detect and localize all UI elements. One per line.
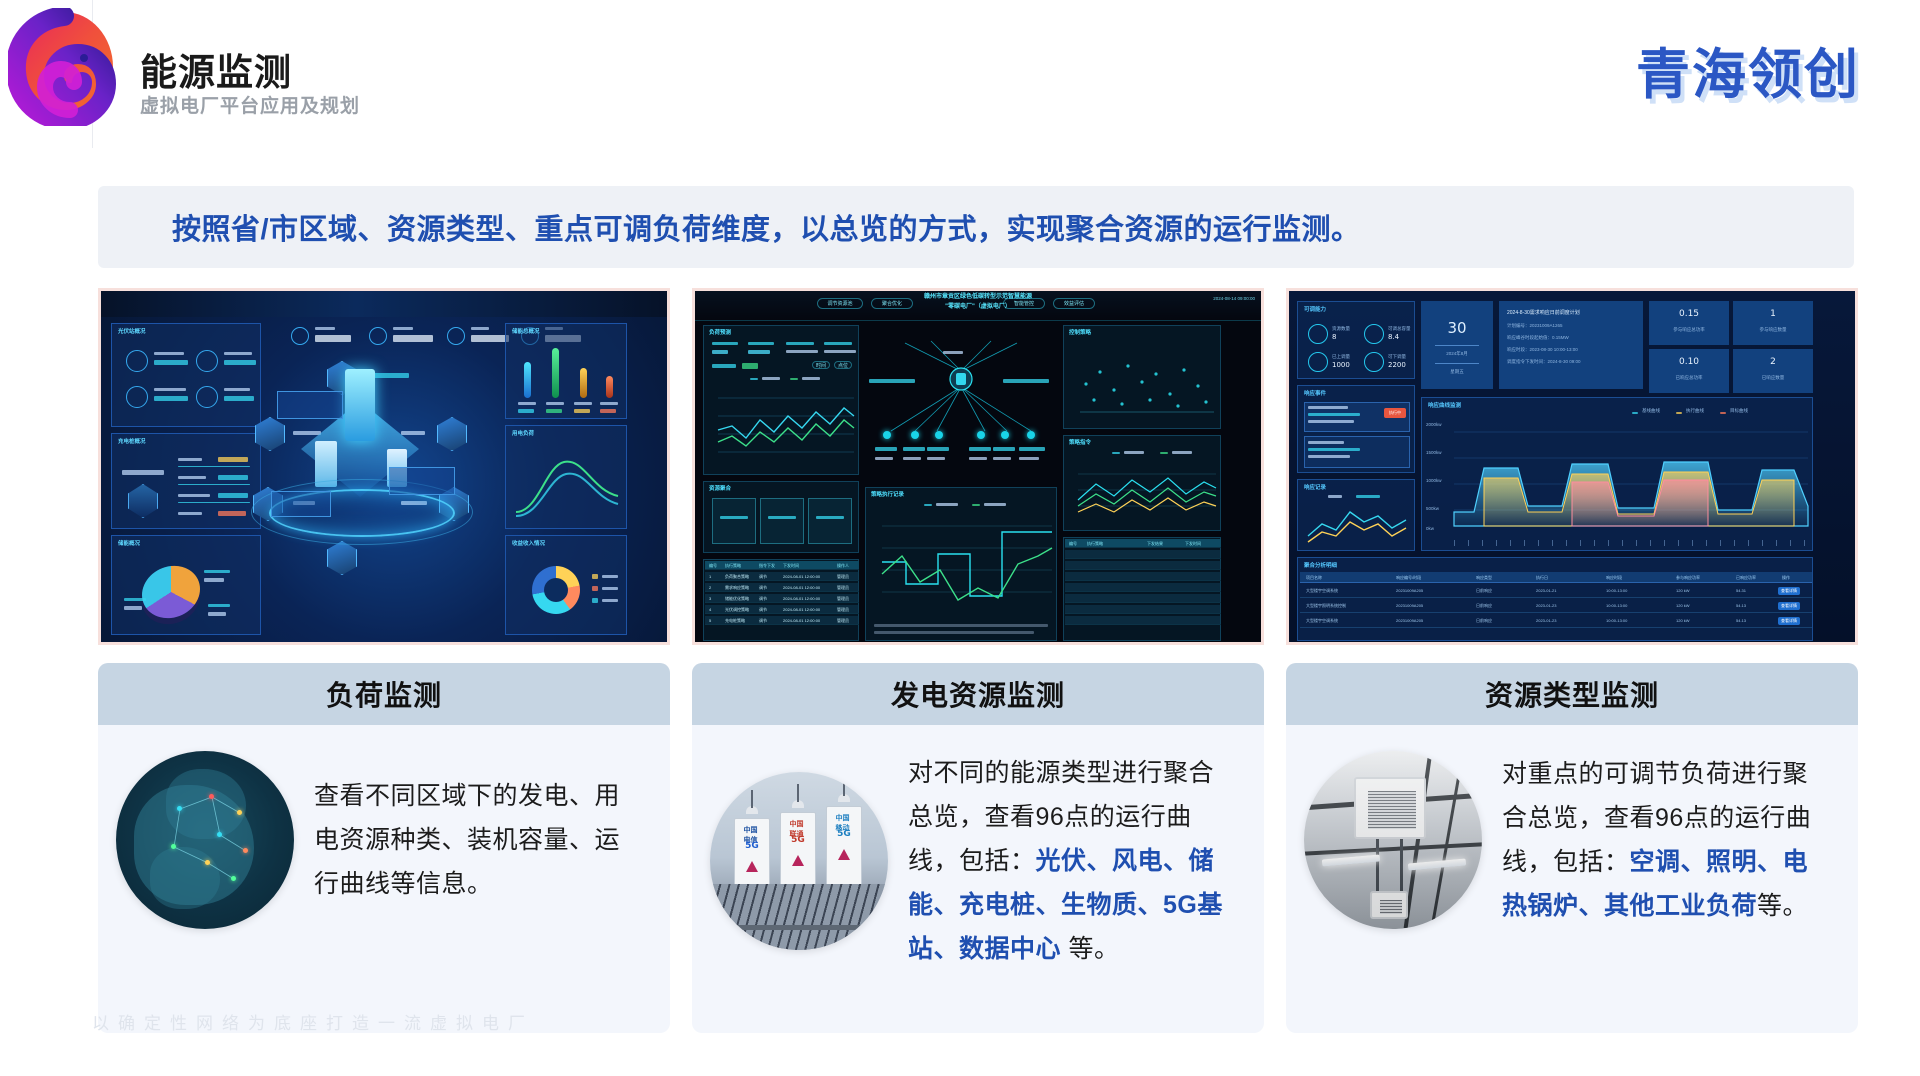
stat-label: 已上调量	[1332, 354, 1350, 360]
card-description: 对不同的能源类型进行聚合总览，查看96点的运行曲线，包括：光伏、风电、储能、充电…	[908, 751, 1238, 971]
card-header: 负荷监测	[98, 663, 670, 725]
panel-control-strategy: 控制策略	[1063, 325, 1221, 429]
panel-revenue: 收益收入情况	[505, 535, 627, 635]
panel-pv-overview: 光伏站概况	[111, 323, 261, 427]
kpi-label: 已响应总功率	[1676, 375, 1703, 381]
column-header: 项目名称	[1306, 575, 1322, 581]
panel-power-load: 用电负荷	[505, 425, 627, 529]
dashboard-topbar	[101, 291, 667, 317]
plan-line: 响应时段：2023-08-30 10:00-13:00	[1507, 347, 1578, 353]
card-text-run: 等。	[1061, 935, 1119, 963]
kpi-card: 2 已响应数量	[1733, 349, 1813, 393]
panel-title: 聚合分析明细	[1304, 561, 1337, 569]
x-axis-ticks	[1454, 540, 1806, 546]
card-body: 对重点的可调节负荷进行聚合总览，查看96点的运行曲线，包括：空调、照明、电热锅炉…	[1286, 725, 1858, 955]
card-body: 查看不同区域下的发电、用电资源种类、装机容量、运行曲线等信息。	[98, 725, 670, 955]
date-weekday: 星期五	[1450, 369, 1464, 375]
table-row[interactable]: 1 负荷聚合策略 调节 2024-08-01 12:00:00 管理员	[705, 572, 859, 581]
column-header: 响应时段	[1606, 575, 1622, 581]
panel-title: 响应曲线监测	[1428, 401, 1461, 409]
card-title: 负荷监测	[326, 674, 442, 714]
page-title: 能源监测	[140, 42, 292, 96]
panel-storage-overview: 储能概况	[111, 535, 261, 635]
card-description: 查看不同区域下的发电、用电资源种类、装机容量、运行曲线等信息。	[314, 774, 644, 906]
stat-value: 8.4	[1388, 333, 1399, 341]
btn-point[interactable]: 点位	[834, 361, 852, 369]
table-header-row: 项目名称 响应编号/时段 响应类型 执行日 响应时段 参与响应功率 已响应功率 …	[1300, 572, 1812, 583]
panel-title: 充电桩概况	[118, 437, 146, 445]
column-header: 参与响应功率	[1676, 575, 1700, 581]
panel-response-event: 响应事件 执行中	[1297, 385, 1415, 473]
screenshot-resource-type[interactable]: 可调能力 资源数量 8 可调总容量 8.4 已上调量 1000 可下调量 220…	[1286, 288, 1858, 645]
kpi-label: 参与响应数量	[1760, 327, 1787, 333]
table-row[interactable]	[1065, 572, 1221, 581]
panel-title: 光伏站概况	[118, 327, 146, 335]
stat-label: 资源数量	[1332, 326, 1350, 332]
panel-resource-aggregation: 资源聚合	[703, 481, 859, 553]
column-header: 执行日	[1536, 575, 1548, 581]
table-row[interactable]: 3 储能优化策略 调节 2024-08-01 12:00:00 管理员	[705, 594, 859, 603]
table-row[interactable]: 大型楼宇照明系统控制 20231009A205 日前响应 2023-01-23 …	[1300, 600, 1812, 613]
view-detail-button[interactable]: 查看详情	[1778, 602, 1800, 610]
table-row[interactable]: 大型楼宇空调系统 20231009A205 日前响应 2023-01-23 10…	[1300, 615, 1812, 628]
5g-tower-photo-icon: 中国电信 5G 中国联通 5G 中国移动 5G	[710, 772, 888, 950]
kpi-value: 1	[1770, 309, 1776, 319]
plan-card: 2024-8-30需求响应日前调度计划 计划编号：20231009A1265 响…	[1499, 301, 1643, 389]
panel-response-record: 响应记录	[1297, 479, 1415, 551]
dashboard-title: 赣州市章贡区绿色低碳转型示范智慧能源	[828, 293, 1128, 302]
panel-storage-summary: 储能总概况	[505, 323, 627, 419]
column-header: 执行策略	[725, 563, 741, 569]
card-title: 发电资源监测	[891, 674, 1065, 714]
column-header: 指令下发	[759, 563, 775, 569]
table-row[interactable]: 4 光伏调控策略 调节 2024-08-01 12:00:00 管理员	[705, 605, 859, 614]
column-header: 操作人	[837, 563, 849, 569]
plan-title: 2024-8-30需求响应日前调度计划	[1507, 309, 1580, 316]
panel-title: 响应事件	[1304, 389, 1326, 397]
legend-item: 基线曲线	[1642, 408, 1660, 414]
table-row[interactable]: 大型楼宇空调系统 20231009A205 日前响应 2023-01-21 10…	[1300, 585, 1812, 598]
card-text-run: 查看不同区域下的发电、用电资源种类、装机容量、运行曲线等信息。	[314, 782, 620, 898]
column-header: 操作	[1782, 575, 1790, 581]
panel-title: 负荷预测	[709, 328, 731, 336]
column-header: 已响应功率	[1736, 575, 1756, 581]
column-header: 下发时间	[783, 563, 799, 569]
column-header: 下发时间	[1185, 541, 1201, 547]
slide-header: 能源监测 虚拟电厂平台应用及规划 青海领创	[0, 0, 1920, 148]
view-detail-button[interactable]: 查看详情	[1778, 587, 1800, 595]
stat-label: 可调总容量	[1388, 326, 1411, 332]
panel-title: 策略指令	[1069, 438, 1091, 446]
column-header: 编号	[1069, 541, 1077, 547]
card-resource-type: 资源类型监测	[1286, 663, 1858, 1033]
panel-response-curve: 响应曲线监测 基线曲线 执行曲线 目标曲线 2000kw 1500kw 1000…	[1421, 397, 1813, 551]
card-load-monitoring: 负荷监测	[98, 663, 670, 1033]
aggregation-flow-diagram	[865, 327, 1057, 477]
screenshot-generation-resource[interactable]: 调节资源池 聚合优化 智能管控 效益评估 赣州市章贡区绿色低碳转型示范智慧能源 …	[692, 288, 1264, 645]
card-text-run: 等。	[1757, 892, 1808, 920]
card-header: 资源类型监测	[1286, 663, 1858, 725]
status-badge: 执行中	[1384, 408, 1406, 418]
table-row[interactable]	[1065, 616, 1221, 625]
table-header-row: 编号 执行策略 指令下发 下发时间 操作人	[705, 561, 859, 570]
panel-title: 响应记录	[1304, 483, 1326, 491]
screenshot-load-monitoring[interactable]: 光伏站概况 充电桩概况	[98, 288, 670, 645]
stat-label: 可下调量	[1388, 354, 1406, 360]
banner: 按照省/市区域、资源类型、重点可调负荷维度，以总览的方式，实现聚合资源的运行监测…	[98, 186, 1854, 268]
plan-line: 计划编号：20231009A1265	[1507, 323, 1563, 329]
column-header: 响应类型	[1476, 575, 1492, 581]
table-row[interactable]	[1065, 594, 1221, 603]
panel-strategy-records: 编号 执行策略 指令下发 下发时间 操作人 1 负荷聚合策略 调节 2024-0…	[703, 559, 859, 641]
column-header: 编号	[709, 563, 717, 569]
kpi-label: 已响应数量	[1762, 375, 1785, 381]
card-title: 资源类型监测	[1485, 674, 1659, 714]
kpi-value: 2	[1770, 357, 1776, 367]
dashboard-timestamp: 2024-08-14 09:00:00	[1213, 296, 1255, 301]
plan-line: 响应峰谷时段起始值：0.15MW	[1507, 335, 1569, 341]
stat-value: 8	[1332, 333, 1336, 341]
panel-title: 策略执行记录	[871, 490, 904, 498]
kpi-card: 1 参与响应数量	[1733, 301, 1813, 345]
stat-value: 2200	[1388, 361, 1406, 369]
dashboard-subtitle: "零碳电厂"（虚拟电厂）	[828, 303, 1128, 312]
table-row[interactable]: 5 充电桩策略 调节 2024-08-01 12:00:00 管理员	[705, 616, 859, 625]
plan-line: 调度指令下发时间：2024-8-30 09:00	[1507, 359, 1581, 365]
stat-value: 1000	[1332, 361, 1350, 369]
ceiling-ac-photo-icon	[1304, 751, 1482, 929]
table-row[interactable]	[1065, 550, 1221, 559]
page-subtitle: 虚拟电厂平台应用及规划	[140, 91, 360, 118]
dashboard-screenshot-strip: 光伏站概况 充电桩概况	[98, 288, 1858, 645]
kpi-card: 0.10 已响应总功率	[1649, 349, 1729, 393]
table-row[interactable]	[1065, 605, 1221, 614]
panel-title: 资源聚合	[709, 484, 731, 492]
panel-title: 控制策略	[1069, 328, 1091, 336]
footer-watermark: 以确定性网络为底座打造一流虚拟电厂	[92, 1009, 534, 1034]
kpi-card: 0.15 参与响应总功率	[1649, 301, 1729, 345]
banner-text: 按照省/市区域、资源类型、重点可调负荷维度，以总览的方式，实现聚合资源的运行监测…	[172, 206, 1361, 248]
legend-item: 执行曲线	[1686, 408, 1704, 414]
panel-adjustable-capacity: 可调能力 资源数量 8 可调总容量 8.4 已上调量 1000 可下调量 220…	[1297, 301, 1415, 379]
date-day: 30	[1447, 319, 1466, 337]
panel-load-forecast: 负荷预测 时间 点位	[703, 325, 859, 475]
panel-aggregation-detail: 聚合分析明细 项目名称 响应编号/时段 响应类型 执行日 响应时段 参与响应功率…	[1297, 557, 1813, 641]
table-header-row: 编号 执行策略 下发结果 下发时间	[1065, 539, 1221, 548]
date-month: 2024年8月	[1446, 351, 1468, 357]
card-description: 对重点的可调节负荷进行聚合总览，查看96点的运行曲线，包括：空调、照明、电热锅炉…	[1502, 752, 1832, 928]
column-header: 响应编号/时段	[1396, 575, 1421, 581]
feature-cards: 负荷监测	[98, 663, 1858, 1033]
panel-title: 收益收入情况	[512, 539, 545, 547]
table-row[interactable]	[1065, 583, 1221, 592]
panel-title: 储能总概况	[512, 327, 540, 335]
legend-item: 目标曲线	[1730, 408, 1748, 414]
panel-strategy-execution: 策略执行记录	[865, 487, 1057, 641]
kpi-label: 参与响应总功率	[1673, 327, 1705, 333]
kpi-value: 0.15	[1679, 309, 1699, 319]
column-header: 执行策略	[1087, 541, 1103, 547]
card-body: 中国电信 5G 中国联通 5G 中国移动 5G	[692, 725, 1264, 997]
btn-time[interactable]: 时间	[812, 361, 830, 369]
column-header: 下发结果	[1147, 541, 1163, 547]
kpi-value: 0.10	[1679, 357, 1699, 367]
spiral-logo-icon	[8, 8, 120, 126]
panel-execution-table: 编号 执行策略 下发结果 下发时间	[1063, 537, 1221, 641]
panel-title: 储能概况	[118, 539, 140, 547]
brand-logo-text: 青海领创	[1636, 30, 1860, 109]
card-generation-resource: 发电资源监测 中国电信 5G 中国联通 5G 中国移动	[692, 663, 1264, 1033]
date-card: 30 2024年8月 星期五	[1421, 301, 1493, 389]
table-row[interactable]: 2 需求响应策略 调节 2024-08-01 12:00:00 管理员	[705, 583, 859, 592]
slide-root: 能源监测 虚拟电厂平台应用及规划 青海领创 按照省/市区域、资源类型、重点可调负…	[0, 0, 1920, 1076]
card-header: 发电资源监测	[692, 663, 1264, 725]
region-map-icon	[116, 751, 294, 929]
table-row[interactable]	[1065, 561, 1221, 570]
view-detail-button[interactable]: 查看详情	[1778, 617, 1800, 625]
panel-strategy-command: 策略指令	[1063, 435, 1221, 531]
panel-title: 可调能力	[1304, 305, 1326, 313]
panel-charging-overview: 充电桩概况	[111, 433, 261, 529]
response-curve-svg	[1422, 420, 1814, 540]
